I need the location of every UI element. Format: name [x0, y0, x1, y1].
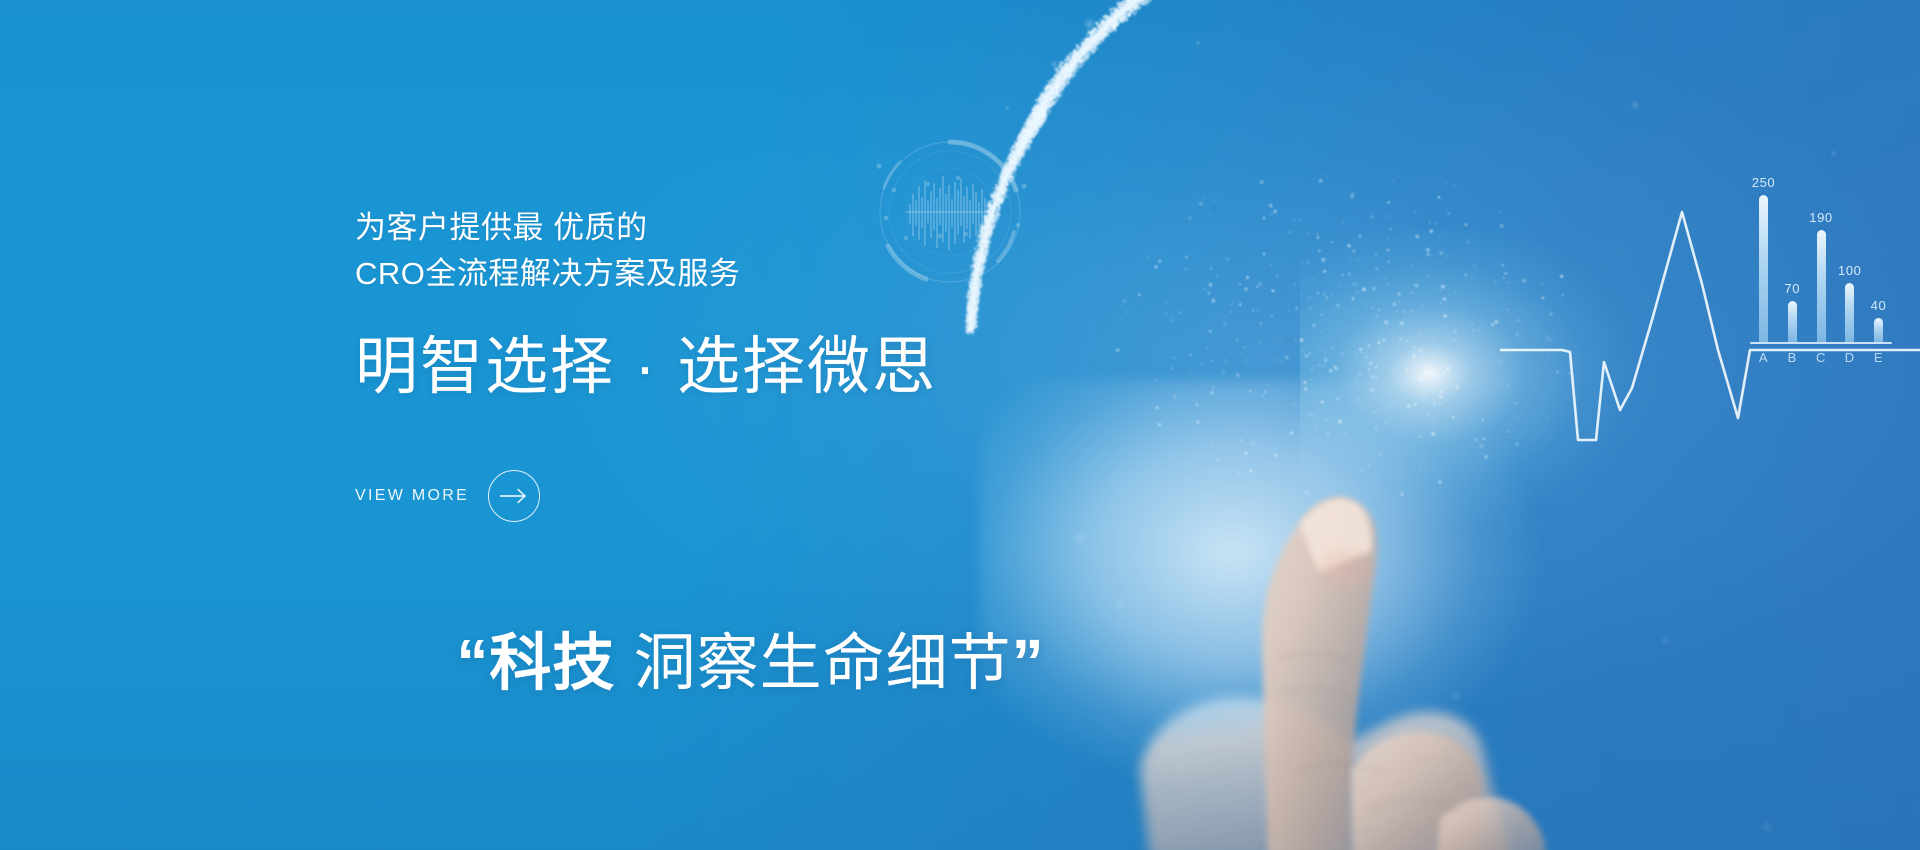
quote-strong-text: 科技 — [489, 629, 615, 698]
hero-subtitle-line-2: CRO全流程解决方案及服务 — [355, 251, 740, 297]
hero-headline: 明智选择 · 选择微思 — [355, 330, 937, 404]
hero-subtitle-line-1: 为客户提供最 优质的 — [355, 205, 740, 251]
hero-content: 为客户提供最 优质的 CRO全流程解决方案及服务 明智选择 · 选择微思 VIE… — [355, 0, 1175, 850]
view-more-label: VIEW MORE — [355, 487, 469, 505]
quote-close-mark: ” — [1012, 626, 1045, 698]
hero-quote: “科技 洞察生命细节” — [347, 558, 1045, 769]
hero-subtitle: 为客户提供最 优质的 CRO全流程解决方案及服务 — [355, 205, 740, 297]
view-more-button[interactable]: VIEW MORE — [355, 470, 540, 522]
quote-light-text: 洞察生命细节 — [615, 629, 1011, 698]
arrow-right-icon — [499, 488, 529, 504]
hero-banner: 250 70 190 100 40 A B C — [0, 0, 1920, 850]
view-more-circle[interactable] — [488, 470, 540, 522]
quote-open-mark: “ — [456, 626, 489, 698]
